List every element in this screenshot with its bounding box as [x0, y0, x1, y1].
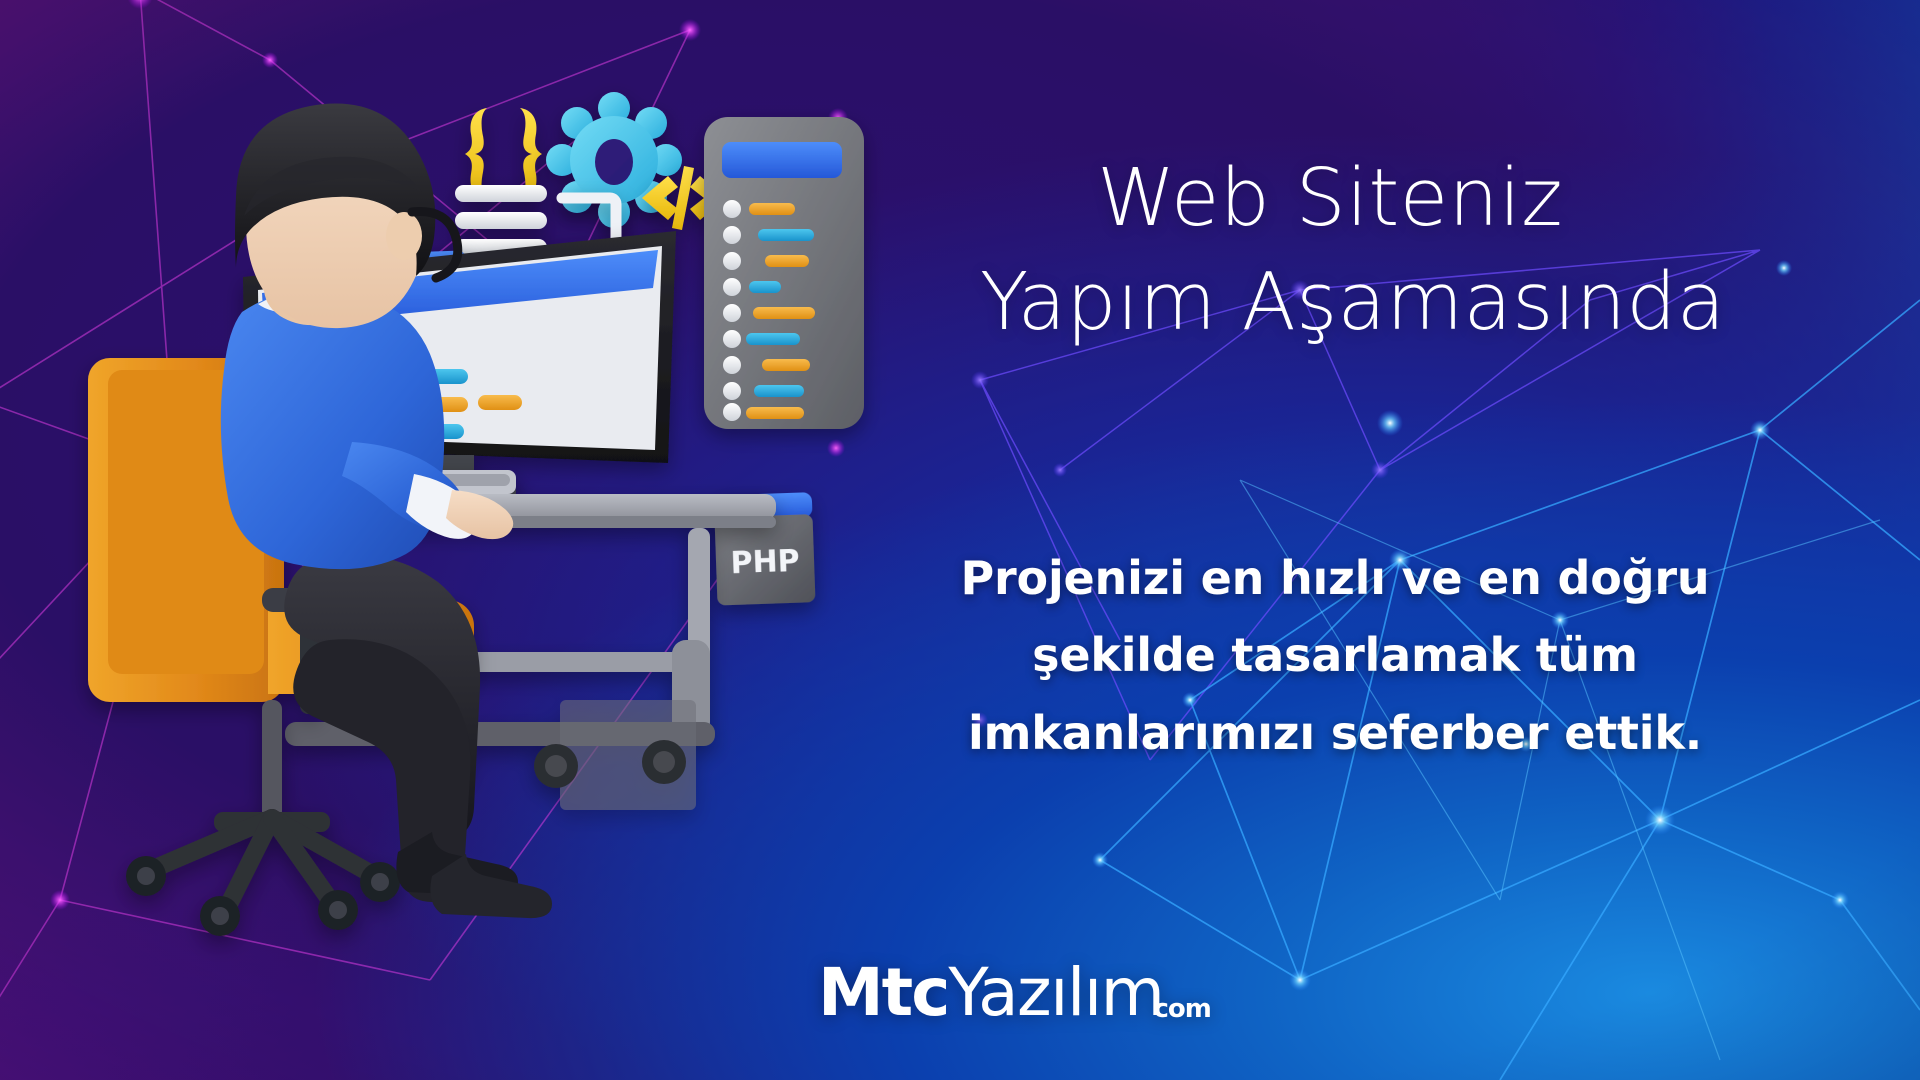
- headline-block: Web Siteniz Yapım Aşamasında: [980, 146, 1680, 355]
- body-copy-line-2: şekilde tasarlamak tüm: [955, 617, 1715, 694]
- developer-illustration: HTML PHP: [0, 0, 1000, 1080]
- code-panel: [704, 117, 864, 429]
- php-card-label: PHP: [730, 544, 800, 581]
- body-copy-line-3: imkanlarımızı seferber ettik.: [955, 695, 1715, 772]
- logo-mark-text: Mtc: [818, 963, 948, 1024]
- headline-line-2: Yapım Aşamasında: [980, 250, 1680, 354]
- banner-root: HTML PHP: [0, 0, 1920, 1080]
- body-copy-line-1: Projenizi en hızlı ve en doğru: [955, 540, 1715, 617]
- list-lines-icon: [455, 185, 547, 256]
- mtcyazilim-logo[interactable]: Mtc Yazılım com: [818, 938, 1211, 1024]
- logo-tld-text: com: [1153, 996, 1210, 1022]
- body-copy-block: Projenizi en hızlı ve en doğru şekilde t…: [955, 540, 1715, 772]
- logo-name-text: Yazılım: [948, 963, 1163, 1024]
- headline-line-1: Web Siteniz: [980, 146, 1680, 250]
